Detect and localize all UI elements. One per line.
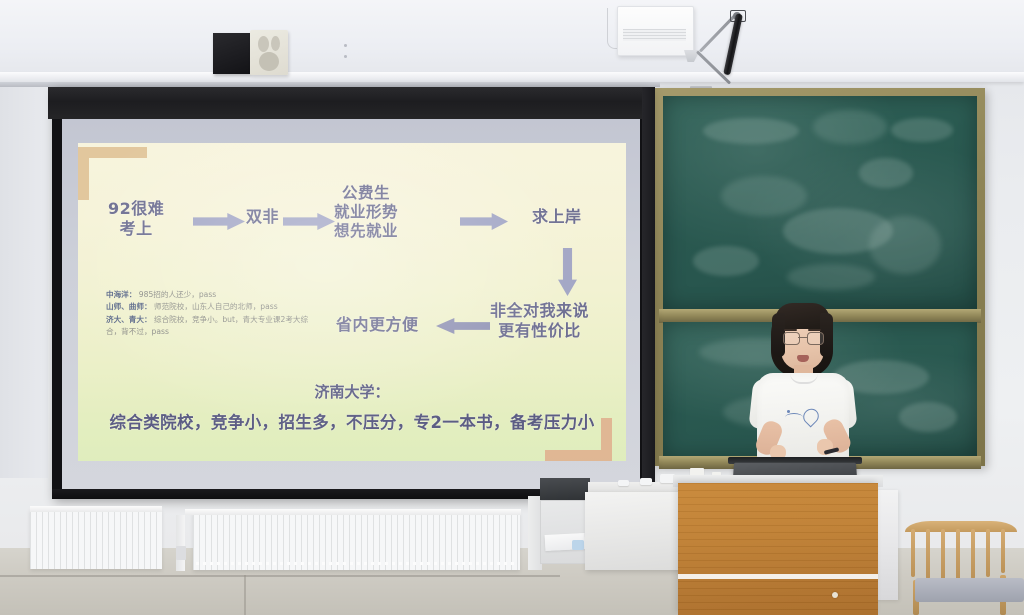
flow-step-2: 双非 xyxy=(246,207,279,227)
flow-arrow-left-icon xyxy=(436,318,490,334)
left-wall-strip xyxy=(0,78,48,478)
flow-step-1: 92很难考上 xyxy=(108,199,164,238)
heart-icon xyxy=(800,406,822,428)
speaker-cone xyxy=(258,36,269,52)
lecture-podium xyxy=(678,483,878,615)
desk-clutter xyxy=(640,478,652,485)
flow-arrow-3-icon xyxy=(460,213,508,230)
radiator-left xyxy=(30,509,162,569)
wall-screw-dots xyxy=(344,44,348,66)
lens-left xyxy=(783,332,800,345)
radiator-valve xyxy=(176,546,186,560)
speaker-cone xyxy=(259,52,279,71)
projection-screen-housing xyxy=(48,87,654,119)
mouth xyxy=(797,355,809,362)
flow-arrow-1-icon xyxy=(193,213,245,230)
av-cabinet-blue-item xyxy=(572,540,584,550)
ac-grille xyxy=(623,29,686,41)
floor-seam xyxy=(0,575,560,577)
presentation-slide: 92很难考上 双非 公费生就业形势想先就业 求上岸 非全对我来说更有性价比 省内… xyxy=(78,143,626,461)
blackboard-panel-top xyxy=(663,96,977,310)
radiator-left-cap xyxy=(30,506,162,512)
note-line-2: 山师、曲师： 师范院校，山东人自己的北师，pass xyxy=(106,301,316,313)
wood-grain xyxy=(678,483,878,615)
radiator-right-cap xyxy=(185,509,521,515)
note-line-1: 中海洋： 985招的人还少，pass xyxy=(106,289,316,301)
podium-knob-icon[interactable] xyxy=(832,592,838,598)
glasses-icon xyxy=(783,332,822,343)
flow-step-6: 省内更方便 xyxy=(336,315,419,335)
graphic-dot xyxy=(787,410,790,413)
chair-seat xyxy=(915,578,1024,602)
tshirt-graphic-icon xyxy=(785,407,823,427)
slide-conclusion-title: 济南大学： xyxy=(78,381,626,402)
note-line-3: 济大、青大： 综合院校，竞争小。but，青大专业课2考大综合，背不过，pass xyxy=(106,314,316,339)
wall-air-conditioner-icon xyxy=(617,6,694,56)
flow-arrow-down-icon xyxy=(558,248,577,296)
flow-arrow-2-icon xyxy=(283,213,335,230)
ceiling-ledge xyxy=(0,72,1024,82)
flow-step-3: 公费生就业形势想先就业 xyxy=(334,184,398,241)
flow-step-4: 求上岸 xyxy=(532,207,582,227)
slide-corner-ornament-topleft xyxy=(78,147,147,200)
radiator-foot-trim xyxy=(196,562,516,565)
classroom-screenshot: 92很难考上 双非 公费生就业形势想先就业 求上岸 非全对我来说更有性价比 省内… xyxy=(0,0,1024,615)
speaker-cone xyxy=(271,36,280,51)
floor-seam-vertical xyxy=(244,575,246,615)
podium-panel-gap xyxy=(678,574,878,579)
slide-conclusion-body: 综合类院校，竞争小，招生多，不压分，专2一本书，备考压力小 xyxy=(78,409,626,433)
eyebrow-right xyxy=(808,329,821,331)
screen-right-edge xyxy=(642,87,655,499)
speaker-light-icon xyxy=(250,30,288,75)
flow-step-5: 非全对我来说更有性价比 xyxy=(490,301,589,340)
slide-notes-block: 中海洋： 985招的人还少，pass 山师、曲师： 师范院校，山东人自己的北师，… xyxy=(106,289,316,338)
graphic-line xyxy=(785,413,803,422)
radiator-pipe xyxy=(176,515,185,571)
lens-right xyxy=(807,332,824,345)
desk-clutter xyxy=(618,480,629,486)
chair-backrest xyxy=(905,521,1017,581)
glasses-bridge xyxy=(798,337,807,338)
speaker-dark-icon xyxy=(213,33,250,74)
eyebrow-left xyxy=(784,329,797,331)
